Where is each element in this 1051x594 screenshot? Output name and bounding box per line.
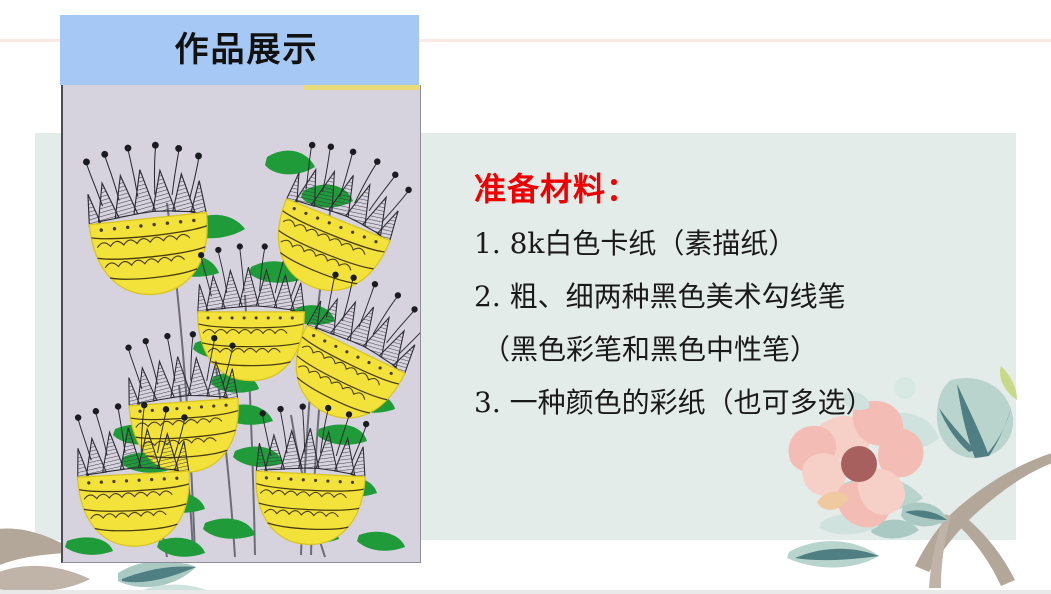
material-item-3: 3. 一种颜色的彩纸（也可多选） bbox=[474, 388, 994, 419]
artwork-illustration bbox=[63, 85, 420, 562]
material-item-2-continued: （黑色彩笔和黑色中性笔） bbox=[482, 335, 994, 366]
material-item-1: 1. 8k白色卡纸（素描纸） bbox=[474, 229, 994, 260]
section-title-banner: 作品展示 bbox=[60, 15, 419, 85]
section-title-text: 作品展示 bbox=[161, 33, 319, 67]
bottom-edge-rule bbox=[0, 590, 1051, 594]
materials-list: 准备材料： 1. 8k白色卡纸（素描纸） 2. 粗、细两种黑色美术勾线笔 （黑色… bbox=[474, 172, 994, 418]
photo-top-yellow-strip bbox=[303, 85, 421, 90]
artwork-photo bbox=[61, 85, 421, 563]
materials-heading: 准备材料： bbox=[474, 172, 994, 207]
material-item-2: 2. 粗、细两种黑色美术勾线笔 bbox=[474, 282, 994, 313]
slide-canvas: 作品展示 bbox=[0, 0, 1051, 594]
